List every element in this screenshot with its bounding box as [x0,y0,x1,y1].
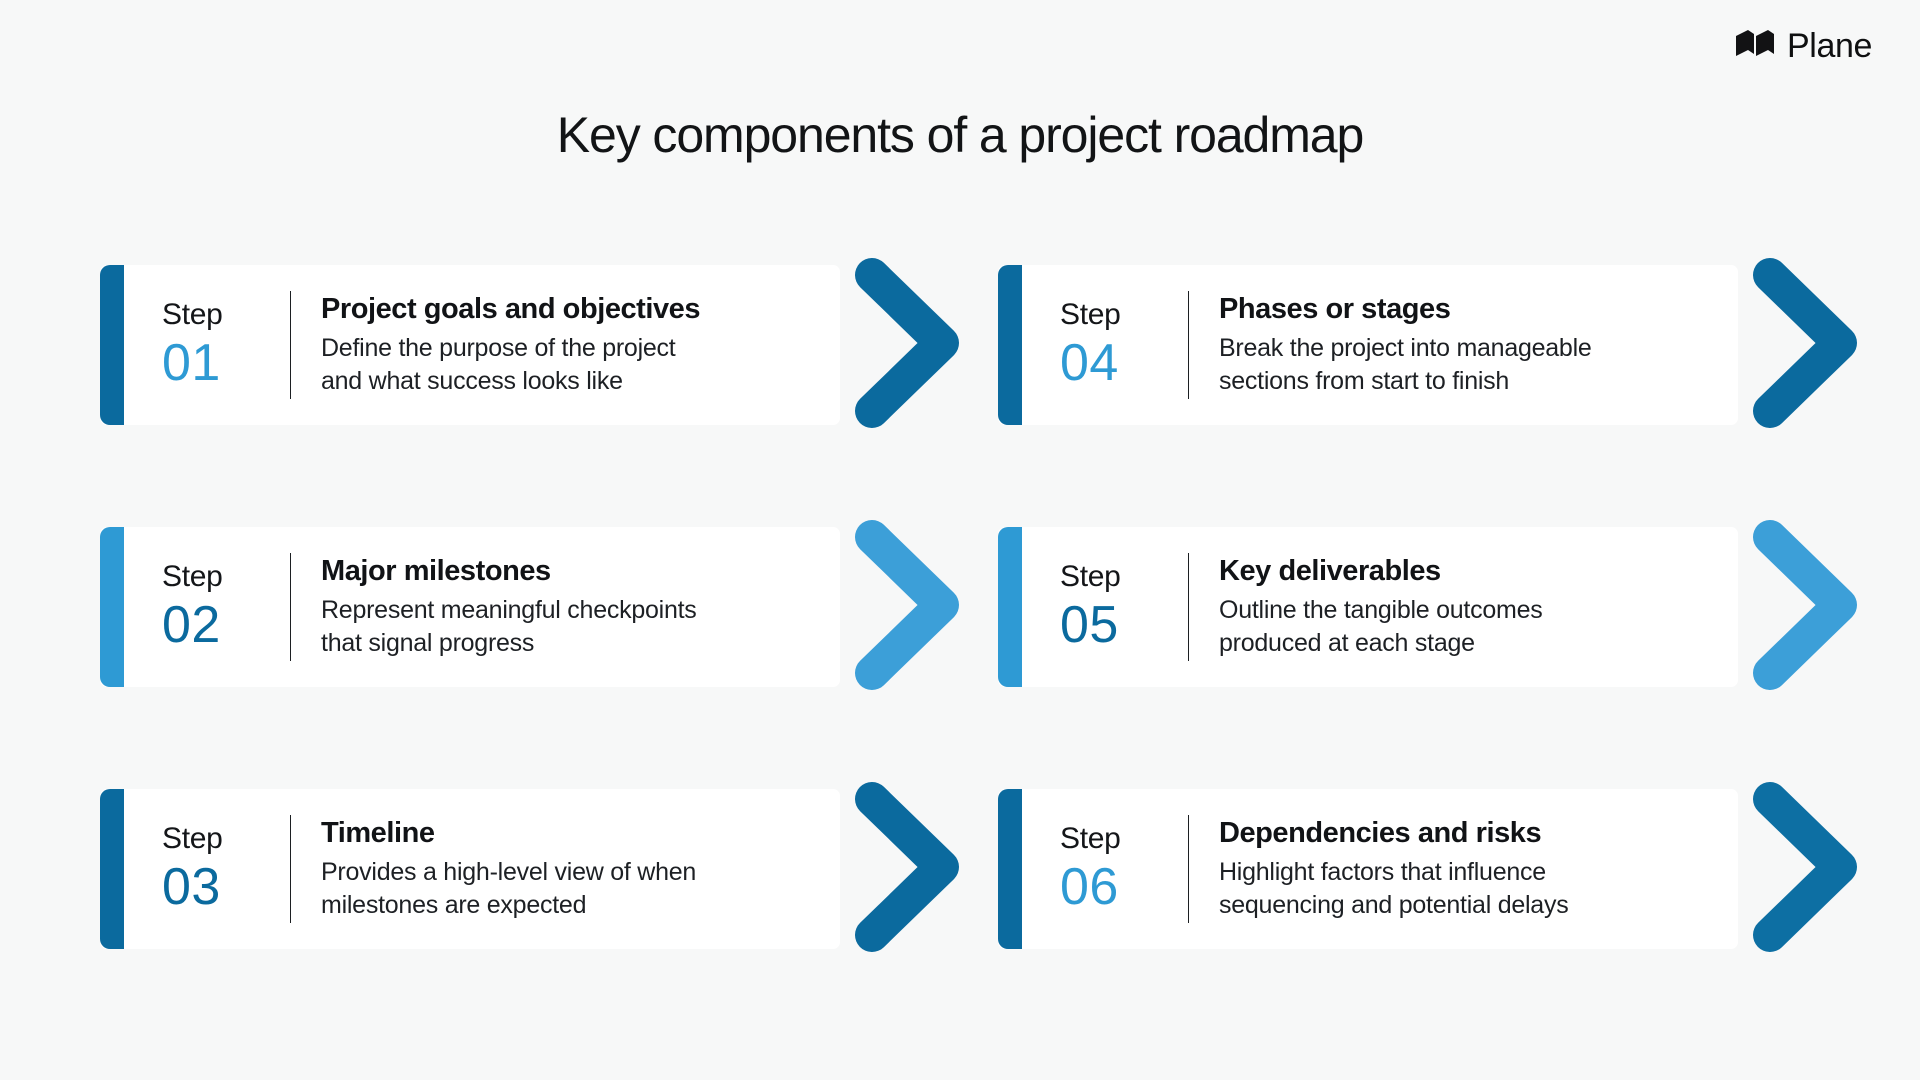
step-row: Step 06 Dependencies and risks Highlight… [998,779,1860,959]
step-card-02[interactable]: Step 02 Major milestones Represent meani… [100,527,840,687]
step-label-block: Step 06 [998,822,1188,917]
chevron-right-icon [1752,519,1860,696]
step-label-block: Step 03 [100,822,290,917]
step-description-line2: sequencing and potential delays [1219,889,1720,922]
step-word: Step [1060,298,1188,333]
step-title: Key deliverables [1219,554,1720,589]
step-text-block: Timeline Provides a high-level view of w… [291,816,840,923]
step-row: Step 04 Phases or stages Break the proje… [998,255,1860,435]
step-description-line2: produced at each stage [1219,627,1720,660]
step-number: 02 [162,596,290,654]
step-description-line2: that signal progress [321,627,822,660]
step-row: Step 02 Major milestones Represent meani… [100,517,962,697]
brand-name: Plane [1787,29,1872,63]
step-card-04[interactable]: Step 04 Phases or stages Break the proje… [998,265,1738,425]
accent-bar [998,265,1022,425]
chevron-right-icon [1752,257,1860,434]
accent-bar [100,789,124,949]
step-title: Timeline [321,816,822,851]
step-word: Step [162,560,290,595]
step-card-05[interactable]: Step 05 Key deliverables Outline the tan… [998,527,1738,687]
step-text-block: Key deliverables Outline the tangible ou… [1189,554,1738,661]
accent-bar [100,265,124,425]
step-number: 06 [1060,858,1188,916]
step-description-line1: Define the purpose of the project [321,332,822,365]
step-number: 05 [1060,596,1188,654]
step-number: 03 [162,858,290,916]
step-label-block: Step 02 [100,560,290,655]
step-word: Step [1060,822,1188,857]
step-number: 04 [1060,334,1188,392]
brand-logo: Plane [1735,28,1872,63]
step-description-line1: Provides a high-level view of when [321,856,822,889]
step-row: Step 03 Timeline Provides a high-level v… [100,779,962,959]
step-description-line1: Break the project into manageable [1219,332,1720,365]
step-description-line2: milestones are expected [321,889,822,922]
step-card-01[interactable]: Step 01 Project goals and objectives Def… [100,265,840,425]
step-label-block: Step 04 [998,298,1188,393]
chevron-right-icon [854,519,962,696]
step-card-06[interactable]: Step 06 Dependencies and risks Highlight… [998,789,1738,949]
step-description-line1: Outline the tangible outcomes [1219,594,1720,627]
step-description-line2: sections from start to finish [1219,365,1720,398]
accent-bar [100,527,124,687]
page-title: Key components of a project roadmap [0,108,1920,163]
step-text-block: Major milestones Represent meaningful ch… [291,554,840,661]
step-description-line1: Highlight factors that influence [1219,856,1720,889]
step-title: Dependencies and risks [1219,816,1720,851]
step-text-block: Project goals and objectives Define the … [291,292,840,399]
accent-bar [998,527,1022,687]
step-text-block: Dependencies and risks Highlight factors… [1189,816,1738,923]
accent-bar [998,789,1022,949]
step-description-line2: and what success looks like [321,365,822,398]
plane-logo-icon [1735,28,1775,63]
chevron-right-icon [1752,781,1860,958]
chevron-right-icon [854,781,962,958]
step-word: Step [162,298,290,333]
step-label-block: Step 05 [998,560,1188,655]
step-label-block: Step 01 [100,298,290,393]
step-word: Step [1060,560,1188,595]
chevron-right-icon [854,257,962,434]
step-title: Major milestones [321,554,822,589]
steps-grid: Step 01 Project goals and objectives Def… [100,255,1860,959]
step-text-block: Phases or stages Break the project into … [1189,292,1738,399]
step-title: Project goals and objectives [321,292,822,327]
infographic-page: Plane Key components of a project roadma… [0,0,1920,1080]
step-description-line1: Represent meaningful checkpoints [321,594,822,627]
step-number: 01 [162,334,290,392]
step-row: Step 05 Key deliverables Outline the tan… [998,517,1860,697]
step-row: Step 01 Project goals and objectives Def… [100,255,962,435]
step-title: Phases or stages [1219,292,1720,327]
step-word: Step [162,822,290,857]
step-card-03[interactable]: Step 03 Timeline Provides a high-level v… [100,789,840,949]
